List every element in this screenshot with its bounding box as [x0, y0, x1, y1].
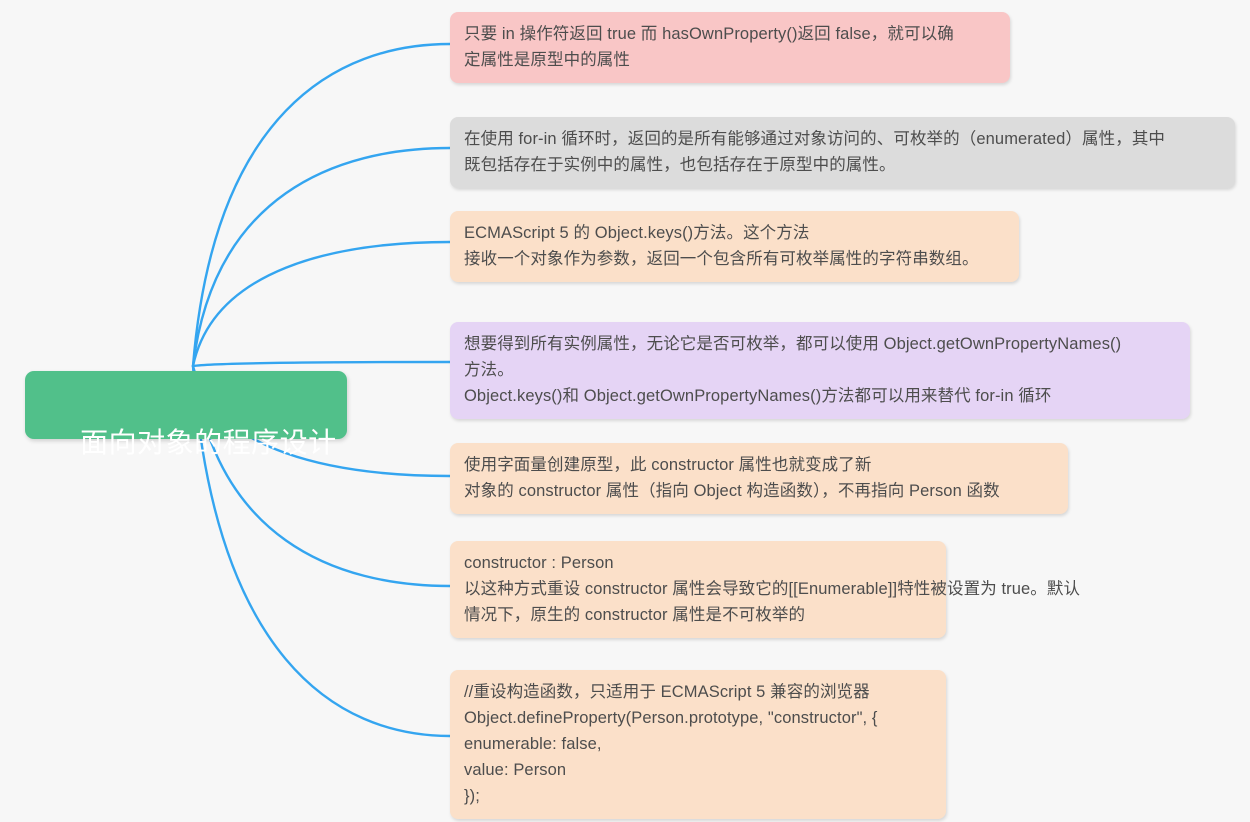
- mindmap-node-in-operator-prototype-check[interactable]: 只要 in 操作符返回 true 而 hasOwnProperty()返回 fa…: [450, 12, 1010, 83]
- mindmap-node-label: //重设构造函数，只适用于 ECMAScript 5 兼容的浏览器 Object…: [464, 683, 878, 805]
- mindmap-node-label: 在使用 for-in 循环时，返回的是所有能够通过对象访问的、可枚举的（enum…: [464, 130, 1165, 174]
- mindmap-node-get-own-property-names-method[interactable]: 想要得到所有实例属性，无论它是否可枚举，都可以使用 Object.getOwnP…: [450, 322, 1190, 419]
- mindmap-node-label: 只要 in 操作符返回 true 而 hasOwnProperty()返回 fa…: [464, 25, 954, 69]
- mindmap-node-constructor-enumerable-note[interactable]: constructor : Person 以这种方式重设 constructor…: [450, 541, 946, 638]
- mindmap-node-label: 想要得到所有实例属性，无论它是否可枚举，都可以使用 Object.getOwnP…: [464, 335, 1121, 405]
- mindmap-node-object-keys-method[interactable]: ECMAScript 5 的 Object.keys()方法。这个方法 接收一个…: [450, 211, 1019, 282]
- connector-in-operator-prototype-check: [193, 44, 450, 366]
- connector-get-own-property-names-method: [193, 362, 450, 366]
- mindmap-canvas: 面向对象的程序设计 只要 in 操作符返回 true 而 hasOwnPrope…: [0, 0, 1250, 822]
- mindmap-node-label: constructor : Person 以这种方式重设 constructor…: [464, 554, 1080, 624]
- mindmap-node-object-literal-constructor-change[interactable]: 使用字面量创建原型，此 constructor 属性也就变成了新 对象的 con…: [450, 443, 1068, 514]
- root-node[interactable]: 面向对象的程序设计: [25, 371, 347, 439]
- root-node-label: 面向对象的程序设计: [80, 427, 337, 458]
- mindmap-node-define-property-constructor-code[interactable]: //重设构造函数，只适用于 ECMAScript 5 兼容的浏览器 Object…: [450, 670, 946, 819]
- connector-for-in-enumerable-properties: [193, 148, 450, 366]
- mindmap-node-label: ECMAScript 5 的 Object.keys()方法。这个方法 接收一个…: [464, 224, 979, 268]
- mindmap-node-for-in-enumerable-properties[interactable]: 在使用 for-in 循环时，返回的是所有能够通过对象访问的、可枚举的（enum…: [450, 117, 1235, 188]
- mindmap-node-label: 使用字面量创建原型，此 constructor 属性也就变成了新 对象的 con…: [464, 456, 1000, 500]
- connector-object-keys-method: [193, 242, 450, 366]
